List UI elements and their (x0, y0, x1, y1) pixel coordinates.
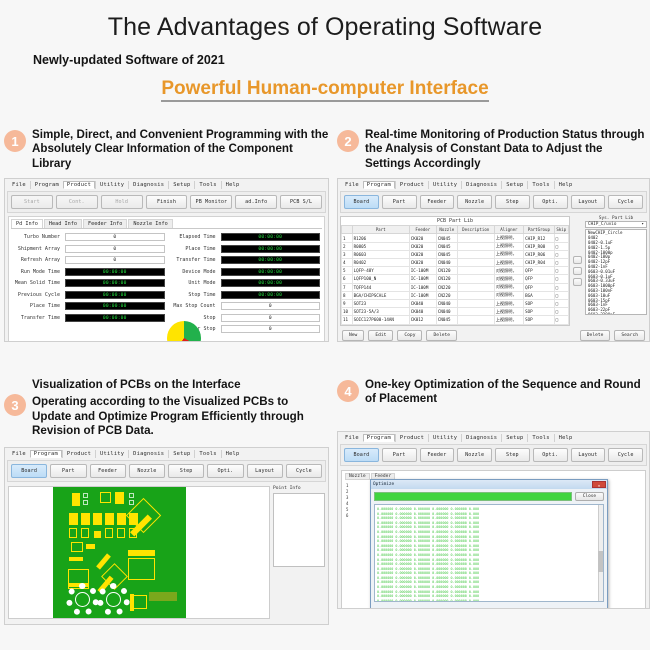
table-cell (457, 242, 494, 250)
chevron-down-icon: ▾ (641, 222, 644, 227)
pcb-sl-button[interactable]: PCB S/L (280, 195, 322, 209)
subtab-strip[interactable]: Pd Info Head Info Feeder Info Nozzle Inf… (11, 219, 322, 229)
table-cell: □ (554, 308, 568, 316)
subtab-pd-info[interactable]: Pd Info (11, 219, 43, 228)
optimize-stage: Nozzle Feeder 1 2 3 4 5 6 Optimize ✕ Clo… (338, 467, 649, 609)
column-header[interactable]: Nozzle (436, 226, 457, 234)
table-cell: SOP (524, 316, 555, 324)
table-cell (457, 234, 494, 242)
menu-item-utility[interactable]: Utility (95, 450, 128, 458)
pcb-board (53, 487, 186, 619)
table-cell: LQFP100_N (352, 275, 409, 283)
pcb-component (100, 492, 111, 503)
board-button[interactable]: Board (11, 464, 47, 478)
menu-item-help[interactable]: Help (554, 181, 577, 189)
search-button[interactable]: Search (614, 330, 645, 341)
section-1-number: 1 (4, 130, 26, 152)
table-cell: □ (554, 267, 568, 275)
pcb-component (105, 513, 114, 525)
form-row: Stop Time00:00:00 (169, 291, 321, 299)
field-label: Transfer Time (13, 315, 65, 321)
field-label: Stop (169, 315, 221, 321)
pcb-connector (149, 592, 177, 601)
table-cell: R0805 (352, 242, 409, 250)
optimize-dialog: Optimize ✕ Close 0.000000 0.000000 0.000… (370, 479, 608, 609)
menu-item-help[interactable]: Help (554, 434, 577, 442)
pcb-component (105, 528, 113, 538)
table-cell: 上视照明, (494, 234, 523, 242)
cycle-button[interactable]: Cycle (608, 195, 643, 209)
section-3-head: 3 Visualization of PCBs on the Interface… (4, 378, 329, 439)
table-row[interactable]: 7TQFP144IC-100MCN220对视照明,QFP□ (342, 283, 569, 291)
pcb-pad-ring-inner (106, 592, 121, 607)
part-lib-body: PCB Part Lib PartFeederNozzleDescription… (338, 214, 649, 327)
column-header[interactable] (342, 226, 353, 234)
field-value[interactable]: 00:00:00 (65, 291, 165, 299)
table-cell: 11 (342, 316, 353, 324)
table-cell: SOIC127P600-14AN (352, 316, 409, 324)
table-cell (457, 283, 494, 291)
scrollbar-thumb[interactable] (598, 551, 603, 572)
feeder-button[interactable]: Feeder (90, 464, 126, 478)
new-button[interactable]: New (342, 330, 364, 341)
app-window-monitor: File Program Product Utility Diagnosis S… (4, 178, 329, 342)
bg-tab-nozzle[interactable]: Nozzle (345, 473, 370, 480)
form-row: Previous Cycle00:00:00 (13, 291, 165, 299)
column-header[interactable]: Aligner (494, 226, 523, 234)
menu-item-diagnosis[interactable]: Diagnosis (461, 434, 501, 442)
nozzle-button[interactable]: Nozzle (457, 448, 492, 462)
menu-item-program[interactable]: Program (30, 450, 62, 458)
sys-part-lib-select[interactable]: CHIP_C/uvio ▾ (585, 221, 647, 228)
transfer-buttons (572, 216, 583, 325)
delete-button[interactable]: Delete (426, 330, 457, 341)
table-cell: CN045 (436, 250, 457, 258)
cycle-button[interactable]: Cycle (608, 448, 643, 462)
page-title: The Advantages of Operating Software (0, 14, 650, 42)
menu-item-product[interactable]: Product (63, 181, 95, 189)
menu-item-tools[interactable]: Tools (194, 450, 220, 458)
table-cell: R1206 (352, 234, 409, 242)
pcb-canvas-row: Point Info (5, 483, 328, 622)
section-3-number: 3 (4, 394, 26, 416)
table-cell: CN120 (436, 275, 457, 283)
feeder-button[interactable]: Feeder (420, 448, 455, 462)
menu-item-program[interactable]: Program (363, 434, 395, 442)
table-cell: BGA (524, 291, 555, 299)
field-value[interactable]: 00:00:00 (221, 233, 321, 241)
section-1-text: Simple, Direct, and Convenient Programmi… (32, 128, 329, 171)
pcb-component (81, 513, 90, 525)
cont-button[interactable]: Cont. (56, 195, 98, 209)
menu-item-diagnosis[interactable]: Diagnosis (128, 450, 168, 458)
pcb-part-lib-table-wrap: PCB Part Lib PartFeederNozzleDescription… (340, 216, 570, 325)
menu-item-setup[interactable]: Setup (168, 181, 194, 189)
pb-monitor-button[interactable]: PB Monitor (190, 195, 232, 209)
menu-item-product[interactable]: Product (395, 181, 428, 189)
pcb-component (129, 500, 134, 505)
table-row[interactable]: 11SOIC127P600-14ANCK012CN045上视照明,SOP□ (342, 316, 569, 324)
menu-item-file[interactable]: File (8, 450, 30, 458)
accent-heading-wrap: Powerful Human-computer Interface (0, 78, 650, 103)
menu-item-utility[interactable]: Utility (428, 181, 461, 189)
pcb-component (69, 513, 78, 525)
field-value[interactable]: 0 (221, 314, 321, 322)
menu-item-file[interactable]: File (341, 181, 363, 189)
pcb-component (128, 550, 155, 556)
stats-column-left: Turbo Number0Shipment Array0Refresh Arra… (13, 233, 165, 337)
table-cell: 7 (342, 283, 353, 291)
table-cell: 上视照明, (494, 299, 523, 307)
pcb-component (69, 528, 77, 538)
menu-item-product[interactable]: Product (395, 434, 428, 442)
optimize-log-list[interactable]: 0.000000 0.000000 0.000000 0.000000 0.00… (374, 504, 604, 602)
status-chart-area: RunStopError (11, 339, 322, 343)
table-cell: □ (554, 299, 568, 307)
table-row[interactable]: 5LQFP-48YIC-100MCN120对视照明,QFP□ (342, 267, 569, 275)
list-item[interactable]: 0603-2200pF (588, 313, 644, 315)
field-value[interactable]: 00:00:00 (65, 268, 165, 276)
add-right-button[interactable] (573, 267, 582, 275)
menu-item-tools[interactable]: Tools (194, 181, 220, 189)
footer-left-group: NewEditCopyDelete (342, 330, 457, 341)
form-row: Place Time00:00:00 (13, 302, 165, 310)
table-cell: □ (554, 242, 568, 250)
opti-button[interactable]: Opti. (533, 195, 568, 209)
pcb-component (71, 542, 83, 552)
field-value[interactable]: 00:00:00 (221, 256, 321, 264)
opti-button[interactable]: Opti. (533, 448, 568, 462)
toolbar-1: Start Cont. Hold Finish PB Monitor ad.In… (7, 191, 326, 213)
table-cell: □ (554, 316, 568, 324)
pcb-component (93, 513, 102, 525)
table-cell: R0603 (352, 250, 409, 258)
dialog-title: Optimize (373, 482, 394, 487)
form-row: Refresh Array0 (13, 256, 165, 264)
form-row: Shipment Array0 (13, 245, 165, 253)
table-cell: CK040 (409, 299, 436, 307)
table-cell: 对视照明, (494, 267, 523, 275)
menu-item-tools[interactable]: Tools (527, 181, 553, 189)
field-value[interactable]: 0 (65, 245, 165, 253)
menubar-2[interactable]: File Program Product Utility Diagnosis S… (338, 179, 649, 190)
pcb-component (83, 493, 88, 498)
menu-item-program[interactable]: Program (363, 181, 395, 189)
menubar-1[interactable]: File Program Product Utility Diagnosis S… (5, 179, 328, 190)
menu-item-setup[interactable]: Setup (501, 181, 527, 189)
menu-item-program[interactable]: Program (30, 181, 63, 189)
add-left-button[interactable] (573, 256, 582, 264)
table-cell: CN040 (436, 308, 457, 316)
menu-item-setup[interactable]: Setup (501, 434, 527, 442)
feeder-button[interactable]: Feeder (420, 195, 455, 209)
board-button[interactable]: Board (344, 448, 379, 462)
table-cell: □ (554, 259, 568, 267)
field-value[interactable]: 00:00:00 (65, 302, 165, 310)
form-row: Turbo Number0 (13, 233, 165, 241)
hold-button[interactable]: Hold (101, 195, 143, 209)
table-row[interactable]: 9SOT23CK040CN040上视照明,SOP□ (342, 299, 569, 307)
table-cell: 3 (342, 250, 353, 258)
table-row[interactable]: 2R0805CK020CN045上视照明,CHIP_R08□ (342, 242, 569, 250)
section-1-head: 1 Simple, Direct, and Convenient Program… (4, 128, 329, 171)
pcb-component (72, 493, 80, 506)
menu-item-file[interactable]: File (341, 434, 363, 442)
table-row[interactable]: 4R0402CK020CN040上视照明,CHIP_R04□ (342, 259, 569, 267)
field-value[interactable]: 0 (65, 233, 165, 241)
table-cell: QFP (524, 275, 555, 283)
pcb-component (128, 558, 155, 580)
table-cell: 4 (342, 259, 353, 267)
ad-info-button[interactable]: ad.Info (235, 195, 277, 209)
dialog-titlebar[interactable]: Optimize ✕ (371, 480, 607, 489)
pcb-part-lib-title: PCB Part Lib (341, 217, 569, 225)
accent-heading: Powerful Human-computer Interface (161, 78, 488, 103)
table-cell: CK020 (409, 259, 436, 267)
finish-button[interactable]: Finish (146, 195, 188, 209)
cycle-button[interactable]: Cycle (286, 464, 322, 478)
field-value[interactable]: 00:00:00 (65, 279, 165, 287)
nozzle-button[interactable]: Nozzle (457, 195, 492, 209)
table-cell (457, 291, 494, 299)
table-row[interactable]: 8BGA/CHIPSCALEIC-100MCN220对视照明,BGA□ (342, 291, 569, 299)
section-3-heading: Visualization of PCBs on the Interface (32, 378, 329, 392)
table-cell: □ (554, 250, 568, 258)
board-button[interactable]: Board (344, 195, 379, 209)
background-row: 6 (346, 513, 348, 519)
table-cell: QFP (524, 283, 555, 291)
dialog-close-button[interactable]: Close (575, 492, 604, 501)
menu-item-utility[interactable]: Utility (428, 434, 461, 442)
section-3: 3 Visualization of PCBs on the Interface… (4, 378, 329, 650)
table-cell: 5 (342, 267, 353, 275)
form-row: Mean Solid Time00:00:00 (13, 279, 165, 287)
field-value[interactable]: 0 (65, 256, 165, 264)
field-label: Max Stop Count (169, 303, 221, 309)
table-row[interactable]: 10SOT23-5A/3CK040CN040上视照明,SOP□ (342, 308, 569, 316)
column-header[interactable]: Skip (554, 226, 568, 234)
table-cell: 10 (342, 308, 353, 316)
delete-button[interactable]: Delete (580, 330, 611, 341)
table-cell: 对视照明, (494, 291, 523, 299)
step-button[interactable]: Step (168, 464, 204, 478)
subtab-feeder-info[interactable]: Feeder Info (83, 219, 127, 228)
menu-item-help[interactable]: Help (221, 450, 244, 458)
field-value[interactable]: 00:00:00 (65, 314, 165, 322)
table-cell: 上视照明, (494, 242, 523, 250)
app-window-pcb-view: File Program Product Utility Diagnosis S… (4, 447, 329, 625)
table-cell: LQFP-48Y (352, 267, 409, 275)
table-cell: CK020 (409, 234, 436, 242)
field-label: Previous Cycle (13, 292, 65, 298)
column-header[interactable]: Part (352, 226, 409, 234)
dialog-progress-row: Close (371, 489, 607, 504)
pcb-component (69, 557, 83, 561)
edit-button[interactable]: Edit (368, 330, 393, 341)
table-cell: R0402 (352, 259, 409, 267)
layout-button[interactable]: Layout (247, 464, 283, 478)
table-row[interactable]: 6LQFP100_NIC-100MCN120对视照明,QFP□ (342, 275, 569, 283)
form-row: Transfer Time00:00:00 (169, 256, 321, 264)
page-header: The Advantages of Operating Software New… (0, 0, 650, 102)
menu-item-utility[interactable]: Utility (95, 181, 128, 189)
legend-item: Run (17, 341, 49, 343)
menu-item-diagnosis[interactable]: Diagnosis (461, 181, 501, 189)
section-3-text: Operating according to the Visualized PC… (32, 395, 329, 438)
pcb-component (83, 500, 88, 505)
form-row: Place Time00:00:00 (169, 245, 321, 253)
table-cell: CN220 (436, 291, 457, 299)
pcb-viewport[interactable] (8, 486, 270, 619)
progress-bar (374, 492, 572, 501)
field-label: Place Time (169, 246, 221, 252)
field-value[interactable]: 00:00:00 (221, 279, 321, 287)
copy-button[interactable]: Copy (397, 330, 422, 341)
table-cell: TQFP144 (352, 283, 409, 291)
section-1: 1 Simple, Direct, and Convenient Program… (4, 128, 329, 378)
sys-part-lib-listbox[interactable]: NewCHIP_Circle04020402-0.1uF0402-1.5p040… (585, 229, 647, 315)
start-button[interactable]: Start (11, 195, 53, 209)
part-button[interactable]: Part (382, 448, 417, 462)
menu-item-help[interactable]: Help (221, 181, 244, 189)
section-2-number: 2 (337, 130, 359, 152)
toolbar-2: BoardPartFeederNozzleStepOpti.LayoutCycl… (340, 191, 647, 213)
table-row[interactable]: 3R0603CK020CN045上视照明,CHIP_R06□ (342, 250, 569, 258)
field-value[interactable]: 0 (221, 302, 321, 310)
toolbar-3: BoardPartFeederNozzleStepOpti.LayoutCycl… (7, 460, 326, 482)
optimize-background: Nozzle Feeder 1 2 3 4 5 6 Optimize ✕ Clo… (341, 470, 646, 609)
table-cell: SOP (524, 308, 555, 316)
menu-item-product[interactable]: Product (62, 450, 95, 458)
form-row: Elapsed Time00:00:00 (169, 233, 321, 241)
menu-item-diagnosis[interactable]: Diagnosis (128, 181, 168, 189)
table-cell (457, 316, 494, 324)
table-cell: CHIP_R12 (524, 234, 555, 242)
pcb-component (94, 531, 101, 538)
part-button[interactable]: Part (382, 195, 417, 209)
remove-button[interactable] (573, 278, 582, 286)
pcb-component (86, 544, 95, 549)
field-label: Shipment Array (13, 246, 65, 252)
field-label: Mean Solid Time (13, 280, 65, 286)
table-cell: BGA/CHIPSCALE (352, 291, 409, 299)
table-cell: CHIP_R06 (524, 250, 555, 258)
table-cell: SOP (524, 299, 555, 307)
table-cell (457, 308, 494, 316)
table-cell: 对视照明, (494, 275, 523, 283)
table-cell: CN045 (436, 316, 457, 324)
app-window-part-lib: File Program Product Utility Diagnosis S… (337, 178, 650, 342)
table-cell: IC-100M (409, 267, 436, 275)
part-button[interactable]: Part (50, 464, 86, 478)
column-header[interactable]: PartGroup (524, 226, 555, 234)
table-cell: 上视照明, (494, 316, 523, 324)
field-value[interactable]: 00:00:00 (221, 291, 321, 299)
point-info-title: Point Info (273, 486, 325, 491)
table-cell: IC-100M (409, 283, 436, 291)
table-header-row: PartFeederNozzleDescriptionAlignerPartGr… (342, 226, 569, 234)
menu-item-file[interactable]: File (8, 181, 30, 189)
log-row: 0.000000 0.000000 0.000000 0.000000 0.00… (377, 599, 601, 602)
nozzle-button[interactable]: Nozzle (129, 464, 165, 478)
pcb-component (117, 528, 125, 538)
stats-form: Turbo Number0Shipment Array0Refresh Arra… (11, 229, 322, 339)
menu-item-tools[interactable]: Tools (527, 434, 553, 442)
opti-button[interactable]: Opti. (207, 464, 243, 478)
table-cell (457, 275, 494, 283)
field-label: Turbo Number (13, 234, 65, 240)
section-4-head: 4 One-key Optimization of the Sequence a… (337, 378, 650, 407)
chart-legend: RunStopError (17, 341, 49, 343)
table-cell: 2 (342, 242, 353, 250)
table-cell: SOT23 (352, 299, 409, 307)
table-cell (457, 259, 494, 267)
table-cell: CN120 (436, 267, 457, 275)
field-label: Run Mode Time (13, 269, 65, 275)
table-cell: CK020 (409, 242, 436, 250)
stats-column-right: Elapsed Time00:00:00Place Time00:00:00Tr… (169, 233, 321, 337)
step-button[interactable]: Step (495, 448, 530, 462)
table-cell: □ (554, 283, 568, 291)
subtab-nozzle-info[interactable]: Nozzle Info (128, 219, 172, 228)
layout-button[interactable]: Layout (571, 195, 606, 209)
table-cell: 6 (342, 275, 353, 283)
pcb-part-lib-table[interactable]: PartFeederNozzleDescriptionAlignerPartGr… (341, 225, 569, 324)
field-label: Transfer Time (169, 257, 221, 263)
sys-part-lib-selected-value: CHIP_C/uvio (588, 222, 616, 227)
field-value[interactable]: 00:00:00 (221, 268, 321, 276)
form-row: Unit Mode00:00:00 (169, 279, 321, 287)
field-label: Place Time (13, 303, 65, 309)
close-icon[interactable]: ✕ (592, 481, 606, 488)
point-info-panel: Point Info (273, 486, 325, 619)
toolbar-4: BoardPartFeederNozzleStepOpti.LayoutCycl… (340, 444, 647, 466)
subtab-head-info[interactable]: Head Info (44, 219, 82, 228)
menubar-3[interactable]: File Program Product Utility Diagnosis S… (5, 448, 328, 459)
field-label: Unit Mode (169, 280, 221, 286)
scrollbar[interactable] (598, 505, 603, 601)
field-value[interactable]: 0 (221, 325, 321, 333)
table-cell: CN220 (436, 283, 457, 291)
layout-button[interactable]: Layout (571, 448, 606, 462)
field-label: Stop Time (169, 292, 221, 298)
table-cell: 上视照明, (494, 259, 523, 267)
form-row: Stop0 (169, 314, 321, 322)
menu-item-setup[interactable]: Setup (168, 450, 194, 458)
pie-chart-wrap (49, 339, 318, 343)
app-window-optimize: File Program Product Utility Diagnosis S… (337, 431, 650, 609)
table-cell: 上视照明, (494, 308, 523, 316)
form-row: Run Mode Time00:00:00 (13, 268, 165, 276)
table-cell: IC-100M (409, 291, 436, 299)
field-value[interactable]: 00:00:00 (221, 245, 321, 253)
column-header[interactable]: Feeder (409, 226, 436, 234)
point-info-box[interactable] (273, 493, 325, 567)
menubar-4[interactable]: File Program Product Utility Diagnosis S… (338, 432, 649, 443)
section-2-text: Real-time Monitoring of Production Statu… (365, 128, 650, 171)
table-cell: CN040 (436, 299, 457, 307)
column-header[interactable]: Description (457, 226, 494, 234)
table-row[interactable]: 1R1206CK020CN045上视照明,CHIP_R12□ (342, 234, 569, 242)
pcb-pad-ring-inner (75, 592, 90, 607)
step-button[interactable]: Step (495, 195, 530, 209)
table-cell (457, 250, 494, 258)
section-4-text: One-key Optimization of the Sequence and… (365, 378, 650, 407)
field-label: Refresh Array (13, 257, 65, 263)
part-lib-footer: NewEditCopyDelete DeleteSearch (338, 328, 649, 343)
section-4: 4 One-key Optimization of the Sequence a… (337, 378, 650, 650)
product-info-body: Pd Info Head Info Feeder Info Nozzle Inf… (8, 216, 325, 342)
